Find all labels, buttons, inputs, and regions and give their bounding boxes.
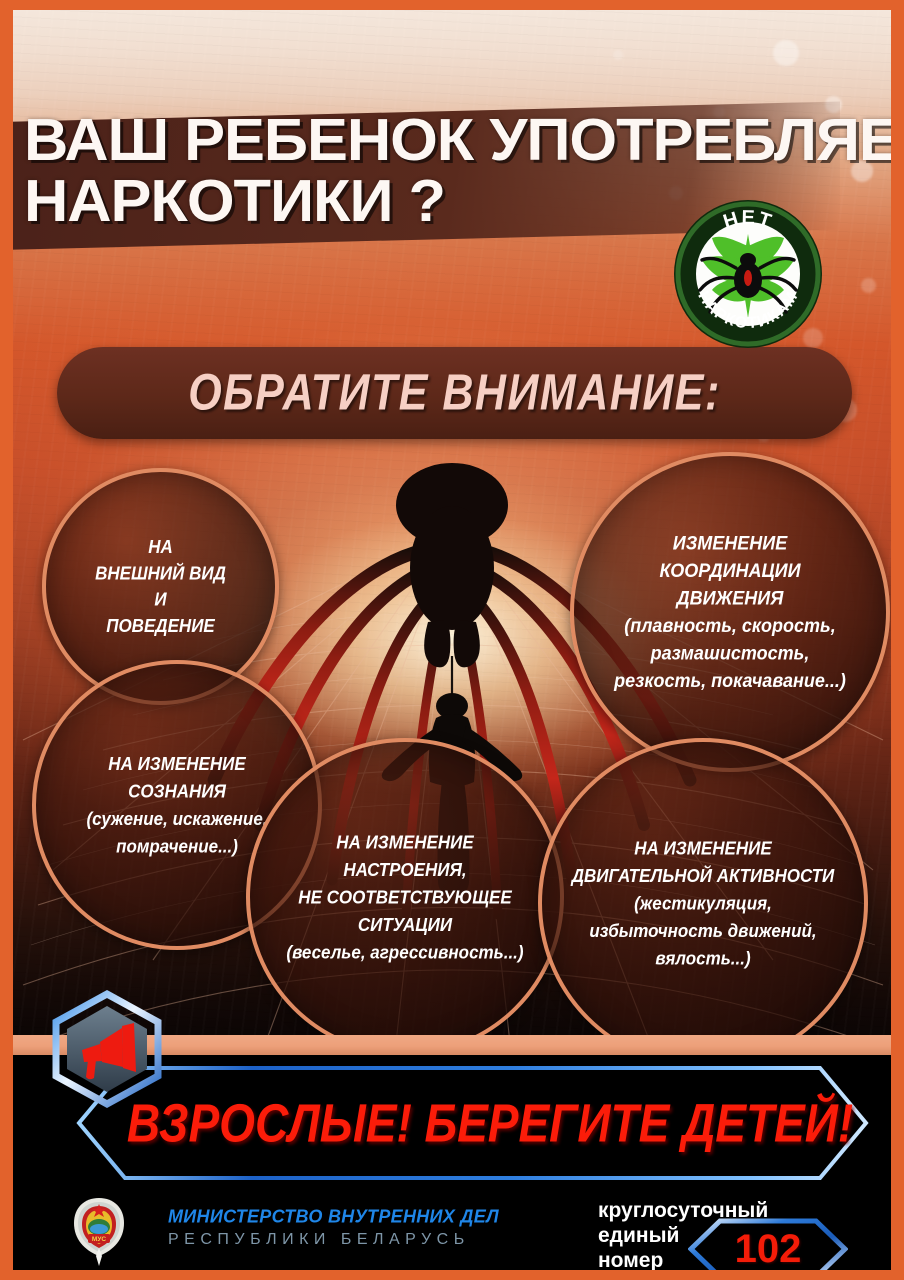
circle-line: НАСТРОЕНИЯ, (286, 856, 523, 884)
circle-detail-line: вялость...) (572, 944, 835, 972)
bokeh-dot (613, 50, 623, 60)
attention-banner: ОБРАТИТЕ ВНИМАНИЕ: (57, 347, 852, 439)
circle-line: НА ИЗМЕНЕНИЕ (572, 834, 835, 862)
circle-motor-activity-text: НА ИЗМЕНЕНИЕ ДВИГАТЕЛЬНОЙ АКТИВНОСТИ (же… (556, 834, 851, 972)
poster-root: ВАШ РЕБЕНОК УПОТРЕБЛЯЕТ НАРКОТИКИ ? (0, 0, 904, 1280)
circle-line: КООРДИНАЦИИ (614, 557, 846, 585)
circle-detail-line: резкость, покачавание...) (614, 667, 846, 695)
ministry-name-line-2: РЕСПУБЛИКИ БЕЛАРУСЬ (168, 1231, 499, 1249)
circle-line: ДВИГАТЕЛЬНОЙ АКТИВНОСТИ (572, 862, 835, 890)
circle-line: НА ИЗМЕНЕНИЕ (286, 828, 523, 856)
no-drugs-badge-icon: НЕТ НАРКОТИКАМ (672, 198, 824, 350)
circle-detail-line: размашистость, (614, 640, 846, 668)
svg-text:МУС: МУС (92, 1236, 106, 1243)
circle-line: НЕ СООТВЕТСТВУЮЩЕЕ (286, 883, 523, 911)
bokeh-dot (773, 40, 799, 66)
circle-line: СОЗНАНИЯ (87, 778, 268, 806)
circle-detail-line: (сужение, искажение, (87, 805, 268, 833)
ministry-text-block: МИНИСТЕРСТВО ВНУТРЕННИХ ДЕЛ РЕСПУБЛИКИ Б… (168, 1206, 499, 1249)
circle-line: СИТУАЦИИ (286, 911, 523, 939)
circle-consciousness-text: НА ИЗМЕНЕНИЕ СОЗНАНИЯ (сужение, искажени… (71, 750, 284, 860)
circle-line: ВНЕШНИЙ ВИД (95, 560, 226, 586)
circle-line: НА (95, 534, 226, 560)
circle-line: НА ИЗМЕНЕНИЕ (87, 750, 268, 778)
circle-detail-line: (плавность, скорость, (614, 612, 846, 640)
circle-line: ИЗМЕНЕНИЕ (614, 530, 846, 558)
circle-mood: НА ИЗМЕНЕНИЕ НАСТРОЕНИЯ, НЕ СООТВЕТСТВУЮ… (246, 738, 564, 1056)
circle-mood-text: НА ИЗМЕНЕНИЕ НАСТРОЕНИЯ, НЕ СООТВЕТСТВУЮ… (270, 828, 539, 966)
circle-detail-line: избыточность движений, (572, 917, 835, 945)
ministry-name-line-1: МИНИСТЕРСТВО ВНУТРЕННИХ ДЕЛ (168, 1205, 499, 1227)
bokeh-dot (861, 278, 876, 293)
circle-coordination: ИЗМЕНЕНИЕ КООРДИНАЦИИ ДВИЖЕНИЯ (плавност… (570, 452, 890, 772)
hotline-number-badge: 102 (688, 1218, 848, 1280)
circle-line: ПОВЕДЕНИЕ (95, 613, 226, 639)
circle-appearance-text: НА ВНЕШНИЙ ВИД И ПОВЕДЕНИЕ (79, 534, 242, 640)
circle-detail-line: помрачение...) (87, 833, 268, 861)
mvd-belarus-emblem-icon: МУС (68, 1196, 130, 1268)
circle-line: ДВИЖЕНИЯ (614, 585, 846, 613)
slogan-text: ВЗРОСЛЫЕ! БЕРЕГИТЕ ДЕТЕЙ! (140, 1073, 840, 1173)
megaphone-icon (48, 990, 166, 1108)
circle-coordination-text: ИЗМЕНЕНИЕ КООРДИНАЦИИ ДВИЖЕНИЯ (плавност… (598, 530, 862, 695)
attention-banner-label: ОБРАТИТЕ ВНИМАНИЕ: (188, 364, 721, 422)
hotline-number: 102 (688, 1218, 848, 1280)
headline-line-1: ВАШ РЕБЕНОК УПОТРЕБЛЯЕТ (24, 110, 898, 171)
circle-detail-line: (жестикуляция, (572, 889, 835, 917)
circle-motor-activity: НА ИЗМЕНЕНИЕ ДВИГАТЕЛЬНОЙ АКТИВНОСТИ (же… (538, 738, 868, 1068)
circle-line: И (95, 587, 226, 613)
circle-detail-line: (веселье, агрессивность...) (286, 938, 523, 966)
